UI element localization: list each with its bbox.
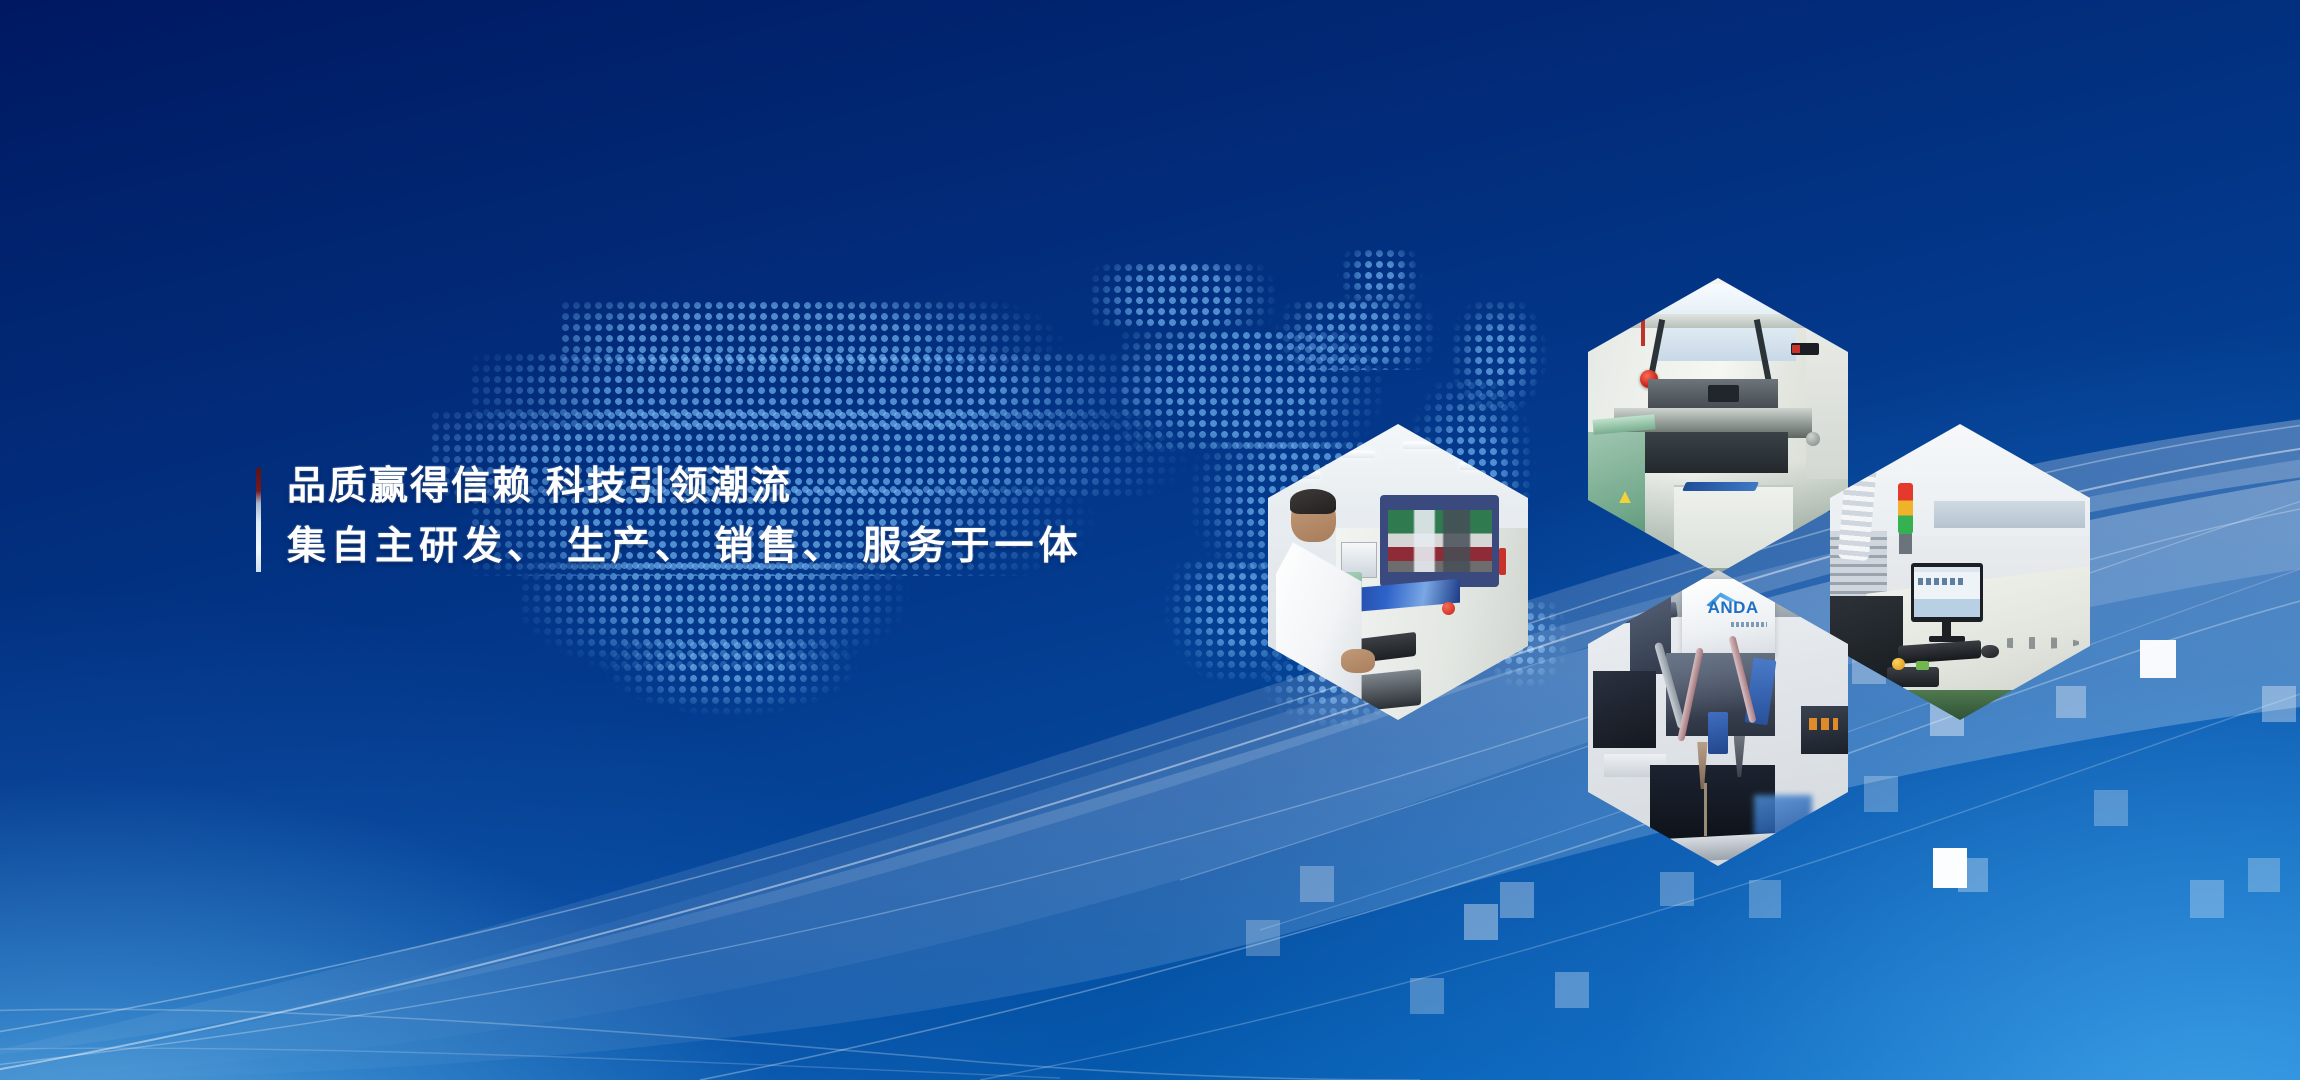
photo-reflow-oven (1830, 424, 2090, 720)
square-particle (2262, 686, 2296, 722)
square-particle (2248, 858, 2280, 892)
square-particle (1464, 904, 1498, 940)
hex-photo-anda-dispenser[interactable]: ANDA (1588, 570, 1848, 866)
square-particle (1933, 848, 1967, 888)
photo-anda-dispenser: ANDA (1588, 570, 1848, 866)
photo-smt-screen-printer (1588, 278, 1848, 574)
hex-photo-reflow-oven[interactable] (1830, 424, 2090, 720)
square-particle (1246, 920, 1280, 956)
headline-line-2: 集自主研发、 生产、 销售、 服务于一体 (287, 520, 1083, 574)
headline-line-1: 品质赢得信赖 科技引领潮流 (287, 462, 1083, 512)
headline-block: 品质赢得信赖 科技引领潮流 集自主研发、 生产、 销售、 服务于一体 (256, 462, 1083, 574)
hexagon-photo-cluster: ANDA (1255, 278, 2105, 798)
square-particle (1300, 866, 1334, 902)
photo-aoi-inspection-station (1268, 424, 1528, 720)
square-particle (1749, 880, 1781, 918)
hex-photo-smt-screen-printer[interactable] (1588, 278, 1848, 574)
square-particle (1410, 978, 1444, 1014)
hex-photo-aoi-inspection[interactable] (1268, 424, 1528, 720)
square-particle (1958, 858, 1988, 892)
promo-banner: 品质赢得信赖 科技引领潮流 集自主研发、 生产、 销售、 服务于一体 (0, 0, 2300, 1080)
square-particle (1660, 872, 1694, 906)
square-particle (1555, 972, 1589, 1008)
square-particle (2190, 880, 2224, 918)
accent-bar (256, 468, 261, 572)
anda-logo-text: ANDA (1708, 597, 1765, 621)
square-particle (1500, 882, 1534, 918)
square-particle (2140, 640, 2176, 678)
